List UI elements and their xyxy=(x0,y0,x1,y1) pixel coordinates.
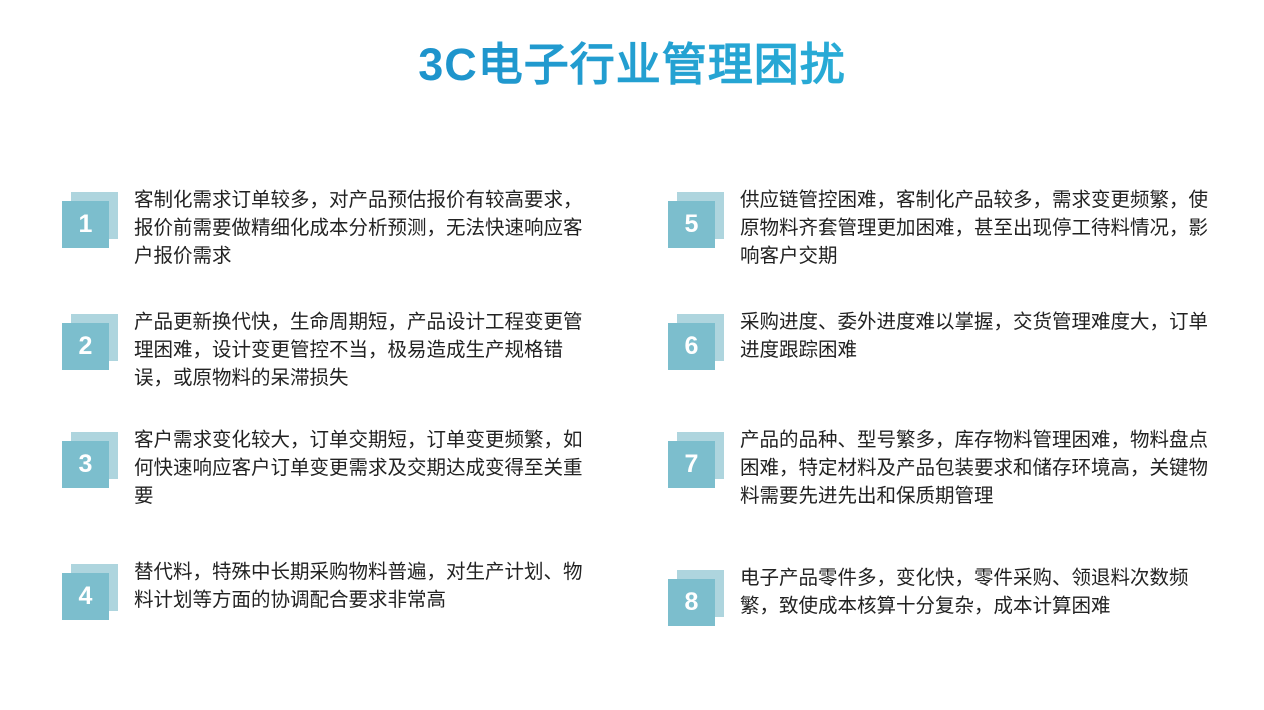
issue-text: 产品更新换代快，生命周期短，产品设计工程变更管理困难，设计变更管控不当，极易造成… xyxy=(134,308,594,392)
page-title: 3C电子行业管理困扰 xyxy=(0,34,1264,96)
issue-text: 产品的品种、型号繁多，库存物料管理困难，物料盘点困难，特定材料及产品包装要求和储… xyxy=(740,426,1218,510)
issue-number-label: 4 xyxy=(62,573,109,620)
issue-number-label: 7 xyxy=(668,441,715,488)
issue-number-badge: 4 xyxy=(62,564,118,620)
issue-number-badge: 1 xyxy=(62,192,118,248)
issue-text: 客户需求变化较大，订单交期短，订单变更频繁，如何快速响应客户订单变更需求及交期达… xyxy=(134,426,594,510)
issue-text: 替代料，特殊中长期采购物料普遍，对生产计划、物料计划等方面的协调配合要求非常高 xyxy=(134,558,594,614)
issue-number-label: 1 xyxy=(62,201,109,248)
issues-board: 1客制化需求订单较多，对产品预估报价有较高要求，报价前需要做精细化成本分析预测，… xyxy=(0,186,1264,696)
issue-number-badge: 7 xyxy=(668,432,724,488)
issue-number-badge: 2 xyxy=(62,314,118,370)
issue-text: 采购进度、委外进度难以掌握，交货管理难度大，订单进度跟踪困难 xyxy=(740,308,1218,364)
issue-number-label: 8 xyxy=(668,579,715,626)
issue-number-badge: 6 xyxy=(668,314,724,370)
issue-number-label: 3 xyxy=(62,441,109,488)
issue-number-label: 2 xyxy=(62,323,109,370)
issue-text: 供应链管控困难，客制化产品较多，需求变更频繁，使原物料齐套管理更加困难，甚至出现… xyxy=(740,186,1218,270)
issue-number-badge: 5 xyxy=(668,192,724,248)
issue-text: 客制化需求订单较多，对产品预估报价有较高要求，报价前需要做精细化成本分析预测，无… xyxy=(134,186,594,270)
issue-number-label: 5 xyxy=(668,201,715,248)
issue-number-badge: 3 xyxy=(62,432,118,488)
issue-number-badge: 8 xyxy=(668,570,724,626)
issue-text: 电子产品零件多，变化快，零件采购、领退料次数频繁，致使成本核算十分复杂，成本计算… xyxy=(740,564,1218,620)
issue-number-label: 6 xyxy=(668,323,715,370)
